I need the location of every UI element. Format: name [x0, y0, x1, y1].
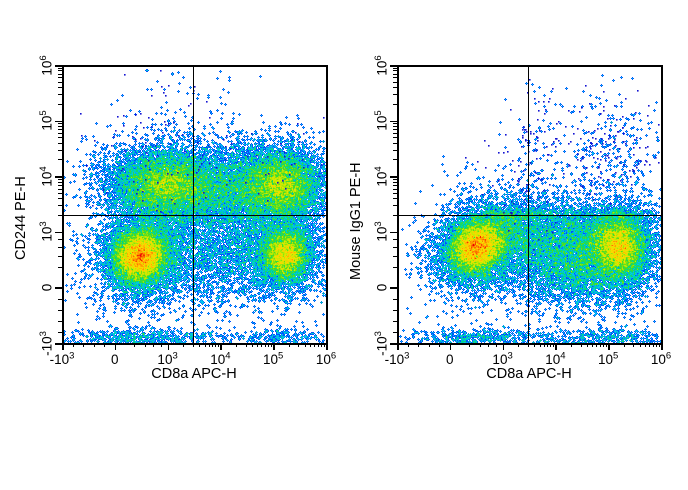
x-minor-tick: [469, 343, 470, 347]
x-minor-tick: [653, 343, 654, 347]
x-major-tick: [503, 343, 505, 350]
y-major-tick: [390, 343, 397, 345]
y-tick-label: 0: [376, 267, 391, 307]
flow-cytometry-figure: -1030103104105106-1030103104105106 CD8a …: [0, 0, 688, 490]
x-minor-tick: [183, 343, 184, 347]
y-major-tick: [390, 176, 397, 178]
y-tick-label: 103: [376, 212, 391, 252]
x-major-tick: [661, 343, 663, 350]
x-minor-tick: [518, 343, 519, 347]
x-tick-label: 106: [316, 353, 336, 367]
x-tick-label: 0: [111, 353, 119, 367]
y-axis-title-left: CD244 PE-H: [14, 176, 29, 260]
axis-spine-bottom: [62, 343, 328, 345]
x-major-tick: [168, 343, 170, 350]
x-minor-tick: [314, 343, 315, 347]
scatter-panel-right: -1030103104105106-1030103104105106 CD8a …: [344, 0, 688, 400]
x-minor-tick: [488, 343, 489, 347]
x-minor-tick: [547, 343, 548, 347]
x-minor-tick: [199, 343, 200, 347]
x-minor-tick: [603, 343, 604, 347]
y-major-tick: [55, 287, 62, 289]
x-minor-tick: [161, 343, 162, 347]
y-major-tick: [390, 232, 397, 234]
x-minor-tick: [305, 343, 306, 347]
x-minor-tick: [324, 343, 325, 347]
x-minor-tick: [252, 343, 253, 347]
x-minor-tick: [624, 343, 625, 347]
x-major-tick: [326, 343, 328, 350]
y-tick-label: 105: [376, 101, 391, 141]
x-minor-tick: [134, 343, 135, 347]
x-minor-tick: [439, 343, 440, 347]
x-minor-tick: [596, 343, 597, 347]
x-minor-tick: [592, 343, 593, 347]
x-minor-tick: [193, 343, 194, 347]
x-tick-label: 103: [492, 353, 512, 367]
y-tick-label: 104: [41, 156, 56, 196]
x-axis-title-right: CD8a APC-H: [486, 367, 571, 382]
x-tick-label: 106: [651, 353, 671, 367]
axis-spine-right: [326, 65, 328, 343]
x-major-tick: [450, 343, 452, 350]
x-minor-tick: [550, 343, 551, 347]
y-major-tick: [55, 176, 62, 178]
x-major-tick: [273, 343, 275, 350]
x-minor-tick: [265, 343, 266, 347]
x-minor-tick: [215, 343, 216, 347]
x-tick-label: 105: [598, 353, 618, 367]
x-axis-title-left: CD8a APC-H: [151, 367, 236, 382]
x-minor-tick: [289, 343, 290, 347]
x-minor-tick: [659, 343, 660, 347]
y-tick-label: 0: [41, 267, 56, 307]
x-minor-tick: [83, 343, 84, 347]
x-minor-tick: [218, 343, 219, 347]
x-minor-tick: [145, 343, 146, 347]
y-tick-label: 103: [41, 212, 56, 252]
x-major-tick: [115, 343, 117, 350]
x-minor-tick: [645, 343, 646, 347]
x-minor-tick: [257, 343, 258, 347]
x-minor-tick: [587, 343, 588, 347]
density-scatter-canvas-right: [397, 65, 661, 343]
x-minor-tick: [633, 343, 634, 347]
x-minor-tick: [534, 343, 535, 347]
y-tick-label: 105: [41, 101, 56, 141]
axis-spine-right: [661, 65, 663, 343]
x-minor-tick: [261, 343, 262, 347]
x-major-tick: [220, 343, 222, 350]
y-tick-label: -103: [41, 323, 56, 363]
x-minor-tick: [429, 343, 430, 347]
x-minor-tick: [318, 343, 319, 347]
x-minor-tick: [209, 343, 210, 347]
x-minor-tick: [544, 343, 545, 347]
x-minor-tick: [600, 343, 601, 347]
x-minor-tick: [581, 343, 582, 347]
y-major-tick: [55, 65, 62, 67]
x-minor-tick: [73, 343, 74, 347]
x-minor-tick: [104, 343, 105, 347]
x-minor-tick: [205, 343, 206, 347]
y-major-tick: [55, 343, 62, 345]
x-minor-tick: [418, 343, 419, 347]
x-minor-tick: [310, 343, 311, 347]
scatter-panel-left: -1030103104105106-1030103104105106 CD8a …: [0, 0, 344, 400]
x-major-tick: [62, 343, 64, 350]
x-tick-label: 104: [545, 353, 565, 367]
x-minor-tick: [606, 343, 607, 347]
x-minor-tick: [496, 343, 497, 347]
x-minor-tick: [298, 343, 299, 347]
x-major-tick: [397, 343, 399, 350]
x-minor-tick: [640, 343, 641, 347]
x-minor-tick: [480, 343, 481, 347]
x-minor-tick: [321, 343, 322, 347]
x-minor-tick: [540, 343, 541, 347]
x-minor-tick: [571, 343, 572, 347]
y-major-tick: [390, 121, 397, 123]
x-minor-tick: [153, 343, 154, 347]
y-major-tick: [390, 287, 397, 289]
x-minor-tick: [649, 343, 650, 347]
x-tick-label: 103: [157, 353, 177, 367]
y-tick-label: 106: [376, 45, 391, 85]
x-minor-tick: [212, 343, 213, 347]
x-major-tick: [608, 343, 610, 350]
x-minor-tick: [236, 343, 237, 347]
x-tick-label: 104: [210, 353, 230, 367]
axis-spine-bottom: [397, 343, 663, 345]
x-minor-tick: [408, 343, 409, 347]
y-major-tick: [390, 65, 397, 67]
x-tick-label: 0: [446, 353, 454, 367]
y-axis-title-right: Mouse IgG1 PE-H: [349, 162, 364, 280]
y-major-tick: [55, 232, 62, 234]
x-minor-tick: [528, 343, 529, 347]
y-major-tick: [55, 121, 62, 123]
y-tick-label: 104: [376, 156, 391, 196]
x-minor-tick: [656, 343, 657, 347]
x-minor-tick: [268, 343, 269, 347]
y-tick-label: -103: [376, 323, 391, 363]
x-minor-tick: [246, 343, 247, 347]
x-minor-tick: [271, 343, 272, 347]
x-major-tick: [555, 343, 557, 350]
y-tick-label: 106: [41, 45, 56, 85]
x-minor-tick: [94, 343, 95, 347]
x-minor-tick: [553, 343, 554, 347]
x-tick-label: 105: [263, 353, 283, 367]
density-scatter-canvas-left: [62, 65, 326, 343]
